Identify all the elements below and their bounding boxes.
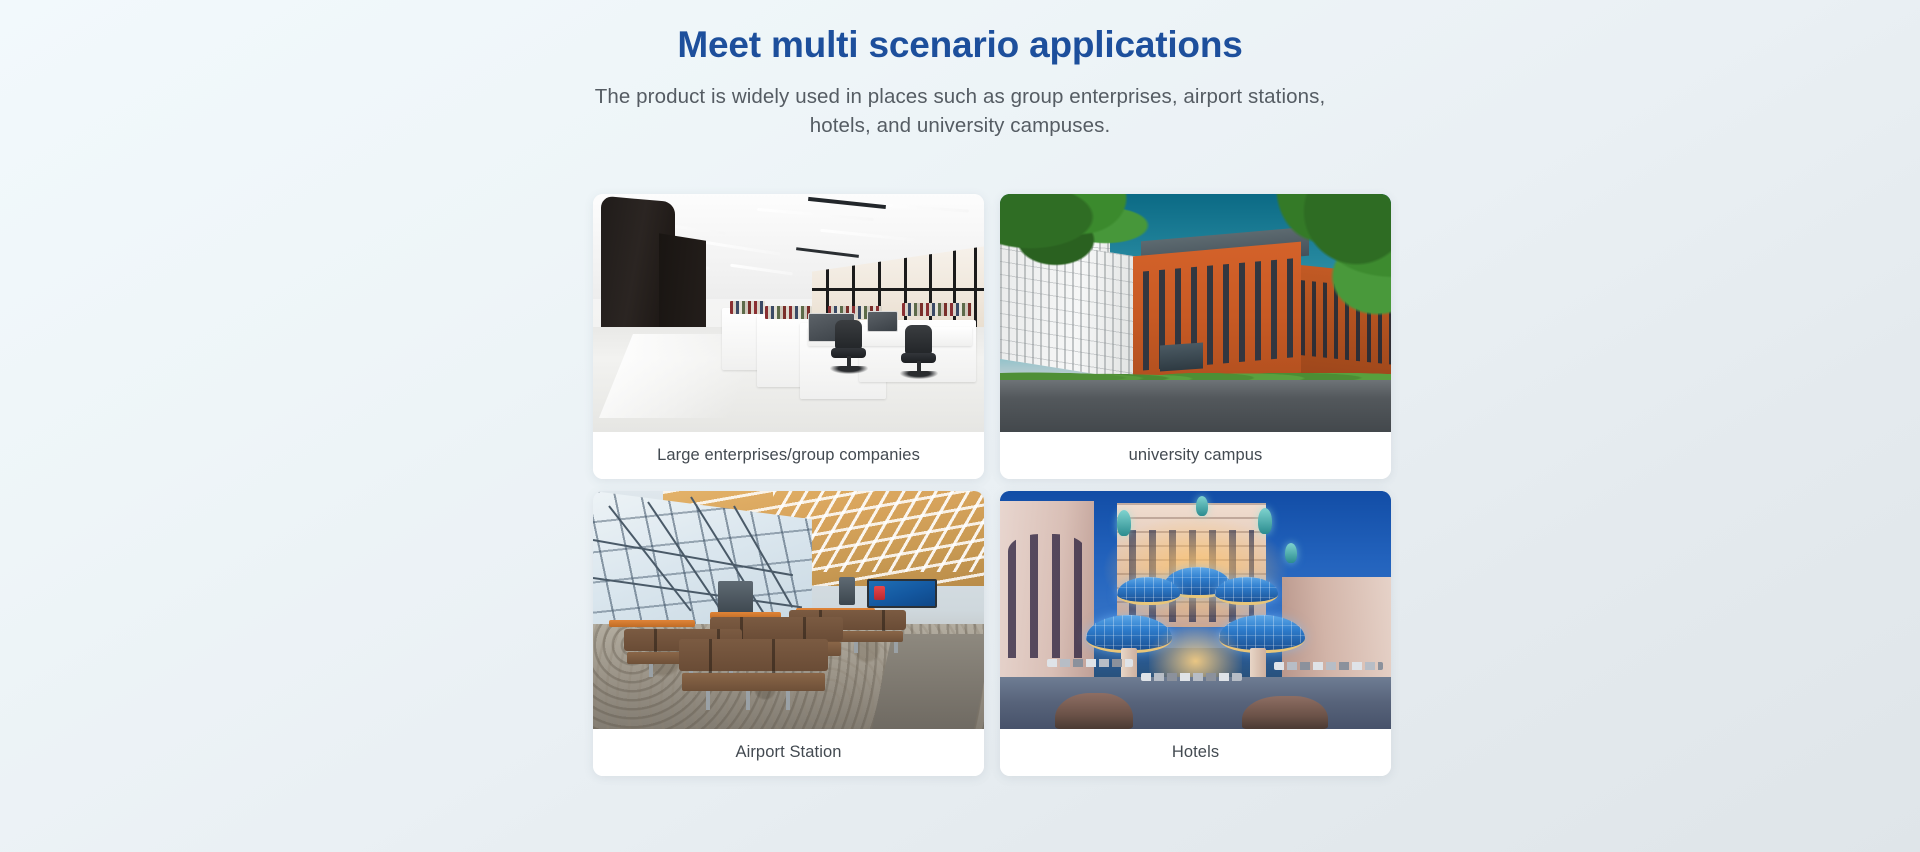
hotel-photo	[1000, 491, 1391, 729]
airport-photo	[593, 491, 984, 729]
section-subtitle: The product is widely used in places suc…	[565, 82, 1355, 140]
scenario-card-caption: Large enterprises/group companies	[593, 432, 984, 479]
scenario-card-enterprise[interactable]: Large enterprises/group companies	[593, 194, 984, 479]
office-photo	[593, 194, 984, 432]
section-header: Meet multi scenario applications The pro…	[0, 0, 1920, 140]
scenario-card-grid: Large enterprises/group companies	[593, 194, 1391, 776]
scenario-card-caption: Hotels	[1000, 729, 1391, 776]
scenario-card-caption: Airport Station	[593, 729, 984, 776]
section-title: Meet multi scenario applications	[0, 22, 1920, 68]
scenario-card-hotels[interactable]: Hotels	[1000, 491, 1391, 776]
scenario-card-university[interactable]: university campus	[1000, 194, 1391, 479]
multi-scenario-section: Meet multi scenario applications The pro…	[0, 0, 1920, 852]
scenario-card-caption: university campus	[1000, 432, 1391, 479]
campus-photo	[1000, 194, 1391, 432]
scenario-card-airport[interactable]: Airport Station	[593, 491, 984, 776]
